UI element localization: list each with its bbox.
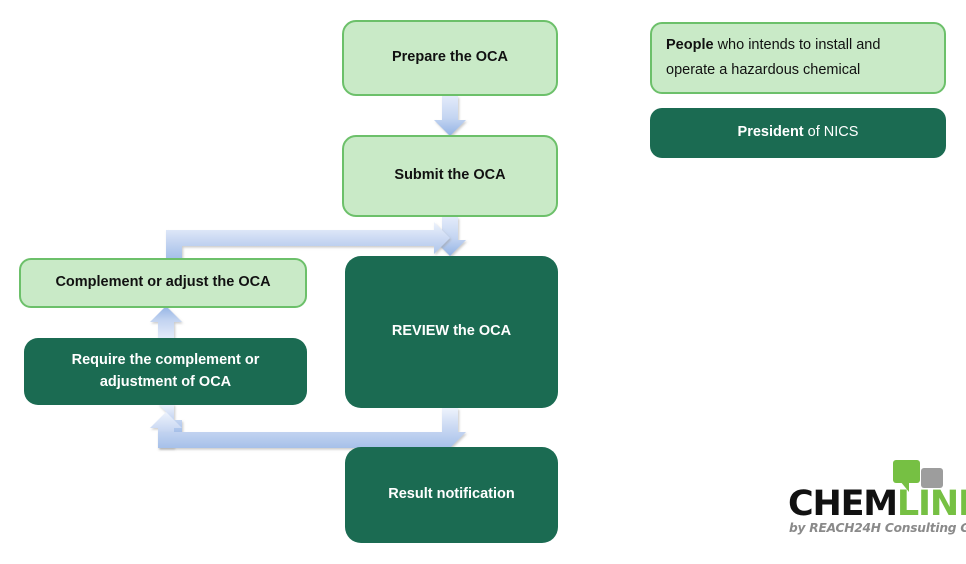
edge-submit-to-review: [434, 217, 466, 256]
chemlinked-logo: CHEMLINKED by REACH24H Consulting Group: [788, 466, 956, 532]
node-review-the-oca-label: REVIEW the OCA: [382, 321, 521, 342]
edge-complement-to-review: [166, 222, 450, 258]
edge-review-to-require: [150, 404, 182, 448]
legend-item-president-rest: of NICS: [804, 124, 859, 140]
logo-wordmark-chem: CHEM: [788, 484, 897, 524]
edge-prepare-to-submit: [434, 96, 466, 136]
edge-require-to-complement: [150, 306, 182, 338]
legend-item-president: President of NICS: [650, 108, 946, 158]
legend-item-people-lead: People: [666, 37, 714, 53]
node-submit-the-oca-label: Submit the OCA: [384, 165, 515, 186]
node-submit-the-oca[interactable]: Submit the OCA: [342, 135, 558, 217]
legend-item-president-lead: President: [738, 124, 804, 140]
node-require-complement-or-adjustment[interactable]: Require the complement or adjustment of …: [24, 338, 307, 405]
node-require-complement-or-adjustment-label: Require the complement or adjustment of …: [62, 350, 270, 392]
node-complement-or-adjust-the-oca-label: Complement or adjust the OCA: [45, 272, 280, 293]
legend-item-people: People who intends to install and operat…: [650, 22, 946, 94]
node-prepare-the-oca[interactable]: Prepare the OCA: [342, 20, 558, 96]
node-result-notification-label: Result notification: [378, 484, 524, 505]
node-complement-or-adjust-the-oca[interactable]: Complement or adjust the OCA: [19, 258, 307, 308]
speech-bubble-green-icon: [893, 460, 920, 483]
logo-tagline: by REACH24H Consulting Group: [789, 521, 966, 535]
edge-review-to-result: [158, 408, 466, 448]
node-result-notification[interactable]: Result notification: [345, 447, 558, 543]
flowchart-canvas: Prepare the OCA Submit the OCA Complemen…: [0, 0, 966, 564]
node-review-the-oca[interactable]: REVIEW the OCA: [345, 256, 558, 408]
logo-wordmark: CHEMLINKED: [788, 487, 966, 522]
node-prepare-the-oca-label: Prepare the OCA: [382, 47, 518, 68]
logo-wordmark-linked: LINKED: [897, 484, 966, 524]
